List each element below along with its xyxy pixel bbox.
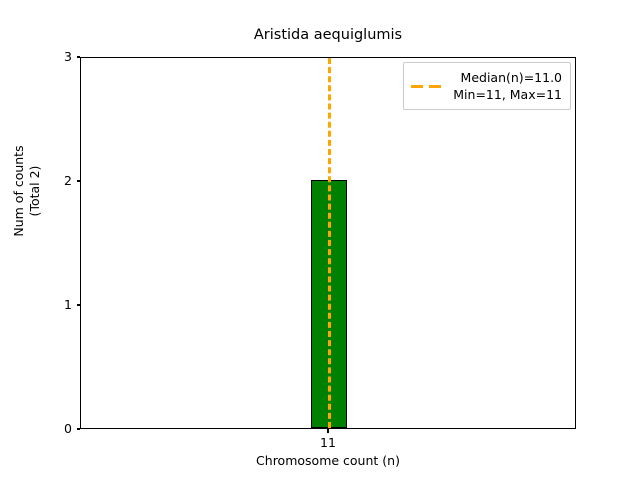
figure-canvas: Aristida aequiglumis Num of counts (Tota… <box>0 0 640 480</box>
legend-label-minmax: Min=11, Max=11 <box>453 86 562 103</box>
y-tick-label: 1 <box>64 296 72 314</box>
x-tick-label: 11 <box>320 435 336 450</box>
plot-area: Median(n)=11.0 Min=11, Max=11 <box>80 57 576 429</box>
legend-label-group: Median(n)=11.0 Min=11, Max=11 <box>453 69 562 103</box>
chart-title: Aristida aequiglumis <box>80 27 576 43</box>
y-tick-label: 3 <box>64 48 72 66</box>
legend-dash-segment-2 <box>429 85 441 88</box>
y-tick-label: 2 <box>64 172 72 190</box>
x-tick-mark <box>327 429 328 433</box>
legend: Median(n)=11.0 Min=11, Max=11 <box>403 62 571 110</box>
y-tick-label: 0 <box>64 420 72 438</box>
y-axis-label: Num of counts (Total 2) <box>11 41 43 341</box>
legend-dash-segment-1 <box>411 85 423 88</box>
legend-label-median: Median(n)=11.0 <box>453 69 562 86</box>
median-line <box>328 58 331 428</box>
legend-median-line-sample <box>411 80 445 92</box>
x-axis-label: Chromosome count (n) <box>80 453 576 468</box>
